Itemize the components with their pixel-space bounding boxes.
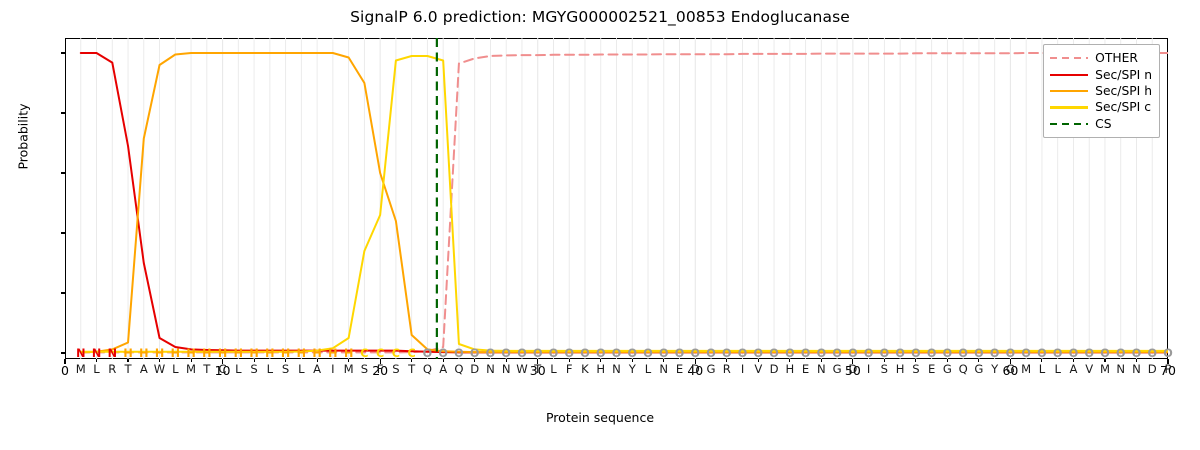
sequence-residue-letter: H	[593, 361, 609, 377]
sequence-residue-letter: A	[136, 361, 152, 377]
sequence-position: OG	[971, 347, 987, 377]
sequence-residue-letter: L	[1050, 361, 1066, 377]
legend-item[interactable]: Sec/SPI c	[1050, 99, 1152, 115]
sequence-residue-letter: S	[908, 361, 924, 377]
sequence-residue-letter: Q	[955, 361, 971, 377]
sequence-state-letter: O	[987, 347, 1003, 361]
sequence-state-letter: H	[136, 347, 152, 361]
sequence-position: HT	[120, 347, 136, 377]
sequence-residue-letter: M	[1018, 361, 1034, 377]
sequence-state-letter: H	[246, 347, 262, 361]
sequence-residue-letter: L	[1034, 361, 1050, 377]
sequence-residue-letter: G	[703, 361, 719, 377]
sequence-position: ON	[1113, 347, 1129, 377]
sequence-position: HL	[293, 347, 309, 377]
sequence-position: HM	[183, 347, 199, 377]
sequence-residue-letter: F	[561, 361, 577, 377]
sequence-residue-letter: S	[876, 361, 892, 377]
sequence-residue-letter: N	[656, 361, 672, 377]
sequence-position: CS	[388, 347, 404, 377]
sequence-state-letter: O	[672, 347, 688, 361]
sequence-state-letter: H	[309, 347, 325, 361]
legend-swatch-sec-spi-c	[1050, 99, 1095, 115]
sequence-state-letter: O	[514, 347, 530, 361]
sequence-residue-letter: D	[467, 361, 483, 377]
y-tick-mark	[61, 292, 66, 293]
sequence-state-letter: O	[1129, 347, 1145, 361]
sequence-state-letter: H	[325, 347, 341, 361]
sequence-position: ON	[609, 347, 625, 377]
sequence-state-letter: N	[73, 347, 89, 361]
sequence-position: OG	[940, 347, 956, 377]
y-tick-mark	[61, 52, 66, 53]
sequence-position: CF	[372, 347, 388, 377]
sequence-position: OL	[1034, 347, 1050, 377]
legend-table: OTHERSec/SPI nSec/SPI hSec/SPI cCS	[1050, 50, 1152, 132]
sequence-state-letter: O	[640, 347, 656, 361]
sequence-residue-letter: I	[861, 361, 877, 377]
legend: OTHERSec/SPI nSec/SPI hSec/SPI cCS	[1043, 44, 1160, 138]
sequence-position: OA	[435, 347, 451, 377]
sequence-residue-letter: H	[782, 361, 798, 377]
sequence-position: ON	[483, 347, 499, 377]
sequence-state-letter: O	[1081, 347, 1097, 361]
sequence-residue-letter: P	[1160, 361, 1176, 377]
sequence-residue-letter: A	[435, 361, 451, 377]
sequence-position: OY	[624, 347, 640, 377]
sequence-state-letter: H	[167, 347, 183, 361]
sequence-state-letter: O	[798, 347, 814, 361]
sequence-state-letter: O	[829, 347, 845, 361]
legend-label: CS	[1095, 116, 1152, 132]
sequence-residue-letter: Q	[420, 361, 436, 377]
sequence-position: OV	[1081, 347, 1097, 377]
data-series-layer	[65, 38, 1168, 359]
sequence-state-letter: O	[420, 347, 436, 361]
sequence-residue-letter: W	[152, 361, 168, 377]
sequence-residue-letter: S	[357, 361, 373, 377]
sequence-state-letter: O	[735, 347, 751, 361]
sequence-position: OL	[546, 347, 562, 377]
sequence-residue-letter: T	[199, 361, 215, 377]
sequence-position: OI	[861, 347, 877, 377]
sequence-state-letter: H	[152, 347, 168, 361]
y-tick-mark	[61, 172, 66, 173]
sequence-position: OY	[987, 347, 1003, 377]
sequence-state-letter: O	[971, 347, 987, 361]
legend-swatch-sec-spi-n	[1050, 66, 1095, 82]
sequence-position: NR	[104, 347, 120, 377]
sequence-position: OH	[892, 347, 908, 377]
sequence-state-letter: O	[703, 347, 719, 361]
legend-label: Sec/SPI h	[1095, 83, 1152, 99]
sequence-position: HA	[136, 347, 152, 377]
legend-label: OTHER	[1095, 50, 1152, 66]
sequence-residue-letter: H	[892, 361, 908, 377]
sequence-residue-letter: V	[1081, 361, 1097, 377]
sequence-residue-letter: D	[845, 361, 861, 377]
sequence-residue-letter: G	[1003, 361, 1019, 377]
sequence-position: HL	[167, 347, 183, 377]
sequence-position: HA	[309, 347, 325, 377]
sequence-position: OD	[1144, 347, 1160, 377]
sequence-residue-letter: Y	[624, 361, 640, 377]
sequence-residue-letter: L	[640, 361, 656, 377]
legend-swatch-cs	[1050, 116, 1095, 132]
sequence-position: NM	[73, 347, 89, 377]
sequence-state-letter: H	[199, 347, 215, 361]
sequence-residue-letter: T	[404, 361, 420, 377]
sequence-state-letter: O	[892, 347, 908, 361]
legend-label: Sec/SPI n	[1095, 66, 1152, 82]
sequence-residue-letter: S	[246, 361, 262, 377]
y-axis-label: Probability	[16, 72, 31, 202]
series-sec-spi-n	[81, 53, 1168, 352]
sequence-position: ON	[1129, 347, 1145, 377]
sequence-position: NL	[89, 347, 105, 377]
sequence-residue-letter: M	[341, 361, 357, 377]
sequence-residue-letter: G	[829, 361, 845, 377]
sequence-state-letter: O	[498, 347, 514, 361]
sequence-state-letter: O	[561, 347, 577, 361]
sequence-position: HL	[230, 347, 246, 377]
sequence-state-letter: O	[435, 347, 451, 361]
sequence-state-letter: O	[719, 347, 735, 361]
sequence-residue-letter: M	[73, 361, 89, 377]
sequence-state-letter: O	[782, 347, 798, 361]
sequence-state-letter: O	[845, 347, 861, 361]
sequence-residue-letter: L	[230, 361, 246, 377]
sequence-state-letter: C	[404, 347, 420, 361]
legend-item[interactable]: Sec/SPI h	[1050, 83, 1152, 99]
sequence-state-letter: O	[908, 347, 924, 361]
sequence-residue-letter: E	[798, 361, 814, 377]
sequence-position: OV	[750, 347, 766, 377]
sequence-state-letter: H	[262, 347, 278, 361]
signalp-prediction-figure: SignalP 6.0 prediction: MGYG000002521_00…	[0, 0, 1200, 450]
x-axis-label: Protein sequence	[0, 410, 1200, 425]
y-tick-mark	[61, 232, 66, 233]
sequence-position: OK	[577, 347, 593, 377]
sequence-position: OL	[1050, 347, 1066, 377]
sequence-state-letter: O	[940, 347, 956, 361]
sequence-residue-letter: L	[89, 361, 105, 377]
sequence-residue-letter: G	[940, 361, 956, 377]
protein-sequence-strip: NMNLNRHTHAHWHLHMHTHCHLHSHLHSHLHAHIHMCSCF…	[65, 347, 1168, 381]
sequence-residue-letter: N	[483, 361, 499, 377]
sequence-state-letter: H	[183, 347, 199, 361]
sequence-residue-letter: L	[546, 361, 562, 377]
sequence-state-letter: O	[687, 347, 703, 361]
sequence-residue-letter: I	[735, 361, 751, 377]
sequence-residue-letter: A	[1066, 361, 1082, 377]
sequence-position: ON	[498, 347, 514, 377]
sequence-residue-letter: S	[388, 361, 404, 377]
sequence-position: OG	[703, 347, 719, 377]
sequence-position: OR	[719, 347, 735, 377]
sequence-state-letter: O	[530, 347, 546, 361]
sequence-residue-letter: V	[750, 361, 766, 377]
sequence-position: OD	[766, 347, 782, 377]
sequence-residue-letter: F	[372, 361, 388, 377]
sequence-residue-letter: W	[514, 361, 530, 377]
sequence-residue-letter: I	[325, 361, 341, 377]
sequence-residue-letter: E	[924, 361, 940, 377]
sequence-position: ON	[813, 347, 829, 377]
page-title: SignalP 6.0 prediction: MGYG000002521_00…	[0, 8, 1200, 26]
sequence-position: HI	[325, 347, 341, 377]
sequence-residue-letter: N	[1113, 361, 1129, 377]
sequence-position: CT	[404, 347, 420, 377]
sequence-position: CS	[357, 347, 373, 377]
sequence-position: OE	[672, 347, 688, 377]
sequence-state-letter: H	[341, 347, 357, 361]
sequence-state-letter: O	[861, 347, 877, 361]
sequence-state-letter: O	[1066, 347, 1082, 361]
sequence-state-letter: C	[388, 347, 404, 361]
sequence-state-letter: H	[293, 347, 309, 361]
sequence-state-letter: O	[924, 347, 940, 361]
sequence-residue-letter: D	[766, 361, 782, 377]
sequence-state-letter: O	[467, 347, 483, 361]
sequence-position: HS	[278, 347, 294, 377]
sequence-position: OM	[1097, 347, 1113, 377]
sequence-residue-letter: E	[672, 361, 688, 377]
sequence-residue-letter: T	[530, 361, 546, 377]
sequence-state-letter: O	[766, 347, 782, 361]
sequence-position: OE	[798, 347, 814, 377]
sequence-residue-letter: T	[120, 361, 136, 377]
sequence-position: OF	[561, 347, 577, 377]
sequence-state-letter: O	[1144, 347, 1160, 361]
sequence-position: OT	[530, 347, 546, 377]
sequence-position: OE	[924, 347, 940, 377]
legend-item[interactable]: OTHER	[1050, 50, 1152, 66]
sequence-residue-letter: K	[577, 361, 593, 377]
sequence-position: HM	[341, 347, 357, 377]
sequence-position: OI	[735, 347, 751, 377]
sequence-state-letter: O	[1113, 347, 1129, 361]
sequence-state-letter: N	[104, 347, 120, 361]
sequence-residue-letter: L	[167, 361, 183, 377]
sequence-state-letter: O	[609, 347, 625, 361]
sequence-residue-letter: N	[498, 361, 514, 377]
sequence-state-letter: O	[750, 347, 766, 361]
sequence-residue-letter: L	[262, 361, 278, 377]
sequence-position: HL	[262, 347, 278, 377]
sequence-state-letter: C	[372, 347, 388, 361]
sequence-state-letter: O	[876, 347, 892, 361]
sequence-position: HT	[199, 347, 215, 377]
sequence-state-letter: O	[483, 347, 499, 361]
sequence-residue-letter: C	[215, 361, 231, 377]
legend-label: Sec/SPI c	[1095, 99, 1152, 115]
sequence-position: OD	[467, 347, 483, 377]
sequence-residue-letter: N	[609, 361, 625, 377]
sequence-state-letter: O	[1050, 347, 1066, 361]
y-tick-mark	[61, 112, 66, 113]
sequence-state-letter: O	[813, 347, 829, 361]
sequence-residue-letter: S	[278, 361, 294, 377]
sequence-state-letter: N	[89, 347, 105, 361]
series-other	[81, 53, 1168, 352]
sequence-state-letter: H	[230, 347, 246, 361]
sequence-residue-letter: R	[719, 361, 735, 377]
sequence-state-letter: O	[1018, 347, 1034, 361]
plot-area: 0.00.20.40.60.81.0010203040506070 OTHERS…	[65, 38, 1168, 359]
series-sec-spi-c	[81, 56, 1168, 352]
sequence-position: OD	[687, 347, 703, 377]
sequence-residue-letter: Y	[987, 361, 1003, 377]
sequence-position: OM	[1018, 347, 1034, 377]
sequence-residue-letter: A	[309, 361, 325, 377]
sequence-state-letter: O	[1034, 347, 1050, 361]
sequence-position: OH	[782, 347, 798, 377]
sequence-state-letter: O	[656, 347, 672, 361]
sequence-position: OH	[593, 347, 609, 377]
sequence-position: OA	[1066, 347, 1082, 377]
sequence-position: OQ	[451, 347, 467, 377]
legend-item[interactable]: Sec/SPI n	[1050, 66, 1152, 82]
sequence-residue-letter: G	[971, 361, 987, 377]
sequence-position: OG	[1003, 347, 1019, 377]
sequence-residue-letter: D	[687, 361, 703, 377]
legend-swatch-other	[1050, 50, 1095, 66]
sequence-position: OQ	[420, 347, 436, 377]
sequence-residue-letter: N	[813, 361, 829, 377]
sequence-state-letter: C	[357, 347, 373, 361]
sequence-position: OG	[829, 347, 845, 377]
sequence-state-letter: H	[215, 347, 231, 361]
sequence-state-letter: O	[546, 347, 562, 361]
sequence-state-letter: H	[278, 347, 294, 361]
sequence-position: ON	[656, 347, 672, 377]
sequence-state-letter: O	[624, 347, 640, 361]
sequence-state-letter: O	[1097, 347, 1113, 361]
sequence-position: OS	[908, 347, 924, 377]
sequence-state-letter: O	[1003, 347, 1019, 361]
sequence-position: HC	[215, 347, 231, 377]
sequence-residue-letter: D	[1144, 361, 1160, 377]
sequence-state-letter: O	[955, 347, 971, 361]
sequence-position: OQ	[955, 347, 971, 377]
legend-item[interactable]: CS	[1050, 116, 1152, 132]
sequence-position: OP	[1160, 347, 1176, 377]
sequence-position: OW	[514, 347, 530, 377]
sequence-residue-letter: M	[1097, 361, 1113, 377]
sequence-residue-letter: N	[1129, 361, 1145, 377]
sequence-position: HS	[246, 347, 262, 377]
sequence-position: OD	[845, 347, 861, 377]
series-sec-spi-h	[81, 53, 1168, 352]
sequence-position: OS	[876, 347, 892, 377]
sequence-residue-letter: R	[104, 361, 120, 377]
sequence-state-letter: O	[577, 347, 593, 361]
legend-swatch-sec-spi-h	[1050, 83, 1095, 99]
sequence-state-letter: O	[593, 347, 609, 361]
sequence-state-letter: H	[120, 347, 136, 361]
sequence-position: OL	[640, 347, 656, 377]
sequence-state-letter: O	[451, 347, 467, 361]
sequence-residue-letter: L	[293, 361, 309, 377]
sequence-residue-letter: M	[183, 361, 199, 377]
sequence-position: HW	[152, 347, 168, 377]
sequence-residue-letter: Q	[451, 361, 467, 377]
sequence-state-letter: O	[1160, 347, 1176, 361]
